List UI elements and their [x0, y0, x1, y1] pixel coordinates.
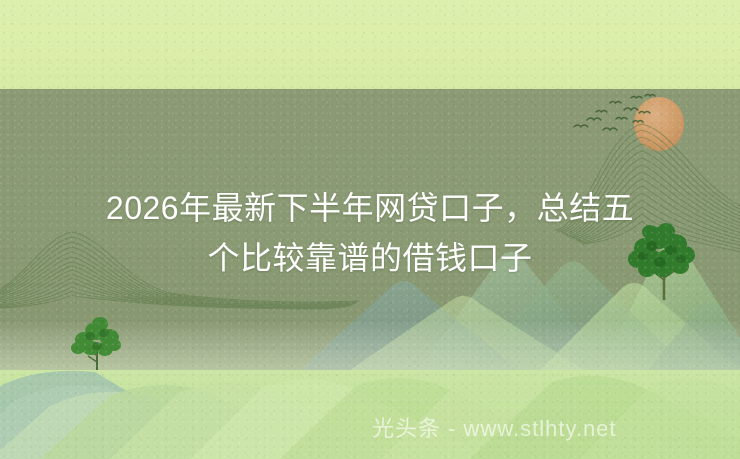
cover-image-canvas: 2026年最新下半年网贷口子，总结五 个比较靠谱的借钱口子 光头条 - www.… — [0, 0, 740, 459]
cover-title-line-2: 个比较靠谱的借钱口子 — [0, 233, 740, 283]
cover-title: 2026年最新下半年网贷口子，总结五 个比较靠谱的借钱口子 — [0, 183, 740, 283]
cover-title-line-1: 2026年最新下半年网贷口子，总结五 — [0, 183, 740, 233]
site-watermark: 光头条 - www.stlhty.net — [372, 414, 732, 444]
